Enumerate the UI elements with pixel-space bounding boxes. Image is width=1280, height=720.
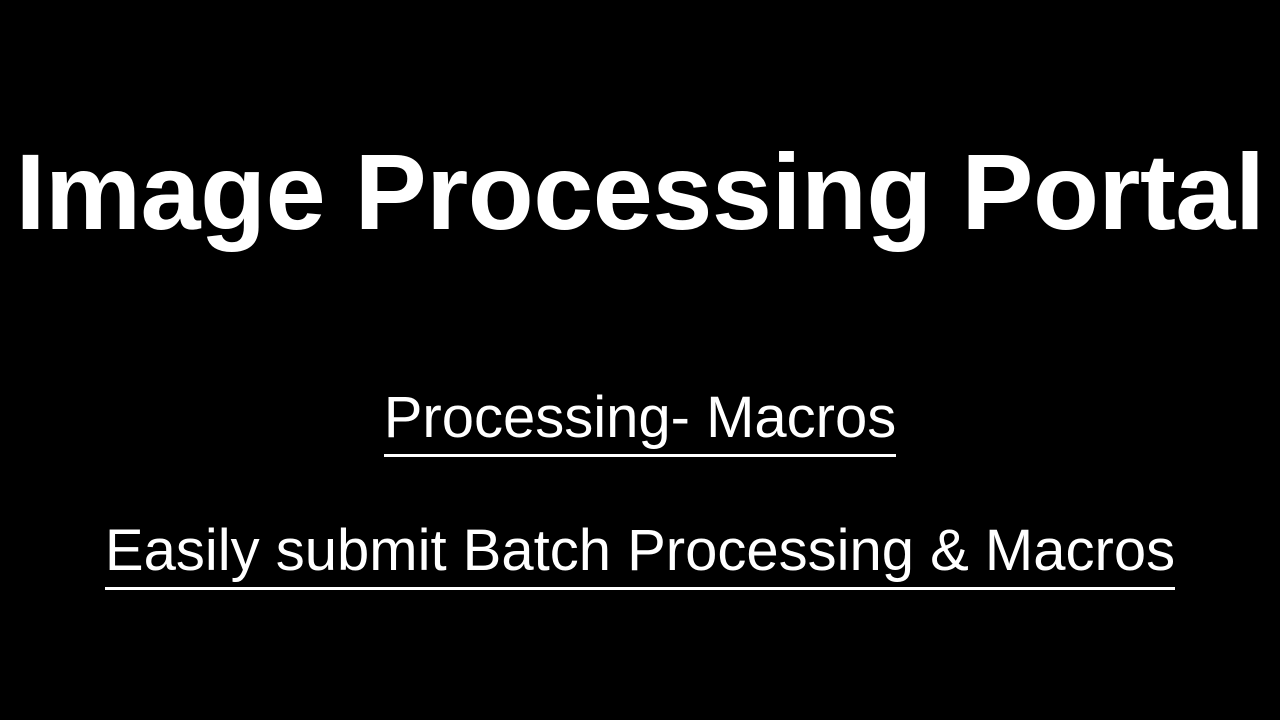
title-block: Image Processing Portal: [0, 138, 1280, 246]
subtitle-text: Processing- Macros: [384, 386, 896, 457]
slide-canvas: Image Processing Portal Processing- Macr…: [0, 0, 1280, 720]
page-title: Image Processing Portal: [16, 138, 1265, 246]
line-spacer: [0, 457, 1280, 519]
body-text-block: Processing- Macros Easily submit Batch P…: [0, 386, 1280, 590]
subtitle-line: Processing- Macros: [0, 386, 1280, 457]
tagline-line: Easily submit Batch Processing & Macros: [0, 519, 1280, 590]
tagline-text: Easily submit Batch Processing & Macros: [105, 519, 1175, 590]
